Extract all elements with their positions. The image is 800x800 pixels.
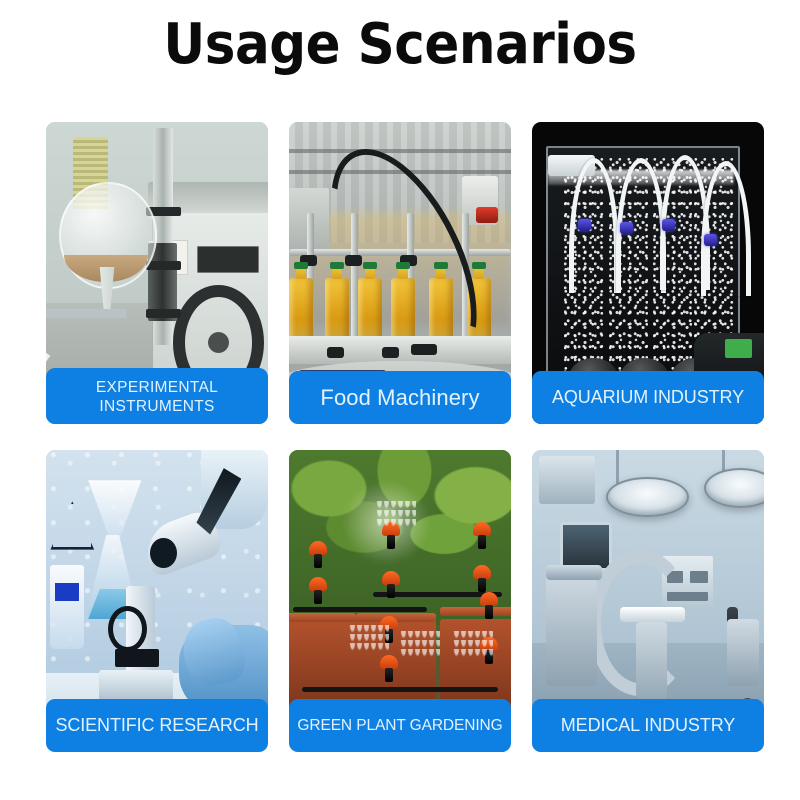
scenario-label-bar-scientific-research: SCIENTIFIC RESEARCH xyxy=(46,699,268,752)
scenario-label-green-plant-gardening: GREEN PLANT GARDENING xyxy=(297,716,502,735)
scenario-label-bar-green-plant-gardening: GREEN PLANT GARDENING xyxy=(289,699,511,752)
scenario-card-food-machinery[interactable]: Food Machinery xyxy=(289,122,511,424)
scenario-label-food-machinery: Food Machinery xyxy=(320,384,479,412)
scenario-label-bar-aquarium-industry: AQUARIUM INDUSTRY xyxy=(532,371,764,424)
scenario-card-medical-industry[interactable]: MEDICAL INDUSTRY xyxy=(532,450,764,752)
scenario-card-experimental-instruments[interactable]: EXPERIMENTAL INSTRUMENTS xyxy=(46,122,268,424)
scenario-card-scientific-research[interactable]: SCIENTIFIC RESEARCH xyxy=(46,450,268,752)
scenario-grid: EXPERIMENTAL INSTRUMENTS xyxy=(46,122,765,752)
scenario-card-green-plant-gardening[interactable]: GREEN PLANT GARDENING xyxy=(289,450,511,752)
scenario-label-scientific-research: SCIENTIFIC RESEARCH xyxy=(55,714,258,737)
scenario-card-aquarium-industry[interactable]: AQUARIUM INDUSTRY xyxy=(532,122,764,424)
scenario-label-bar-food-machinery: Food Machinery xyxy=(289,371,511,424)
usage-scenarios-page: Usage Scenarios xyxy=(0,0,800,800)
scenario-label-aquarium-industry: AQUARIUM INDUSTRY xyxy=(552,386,744,409)
scenario-label-experimental-instruments: EXPERIMENTAL INSTRUMENTS xyxy=(96,378,218,417)
page-title: Usage Scenarios xyxy=(32,14,768,76)
scenario-label-bar-medical-industry: MEDICAL INDUSTRY xyxy=(532,699,764,752)
scenario-label-medical-industry: MEDICAL INDUSTRY xyxy=(561,714,735,737)
scenario-label-bar-experimental-instruments: EXPERIMENTAL INSTRUMENTS xyxy=(46,368,268,424)
